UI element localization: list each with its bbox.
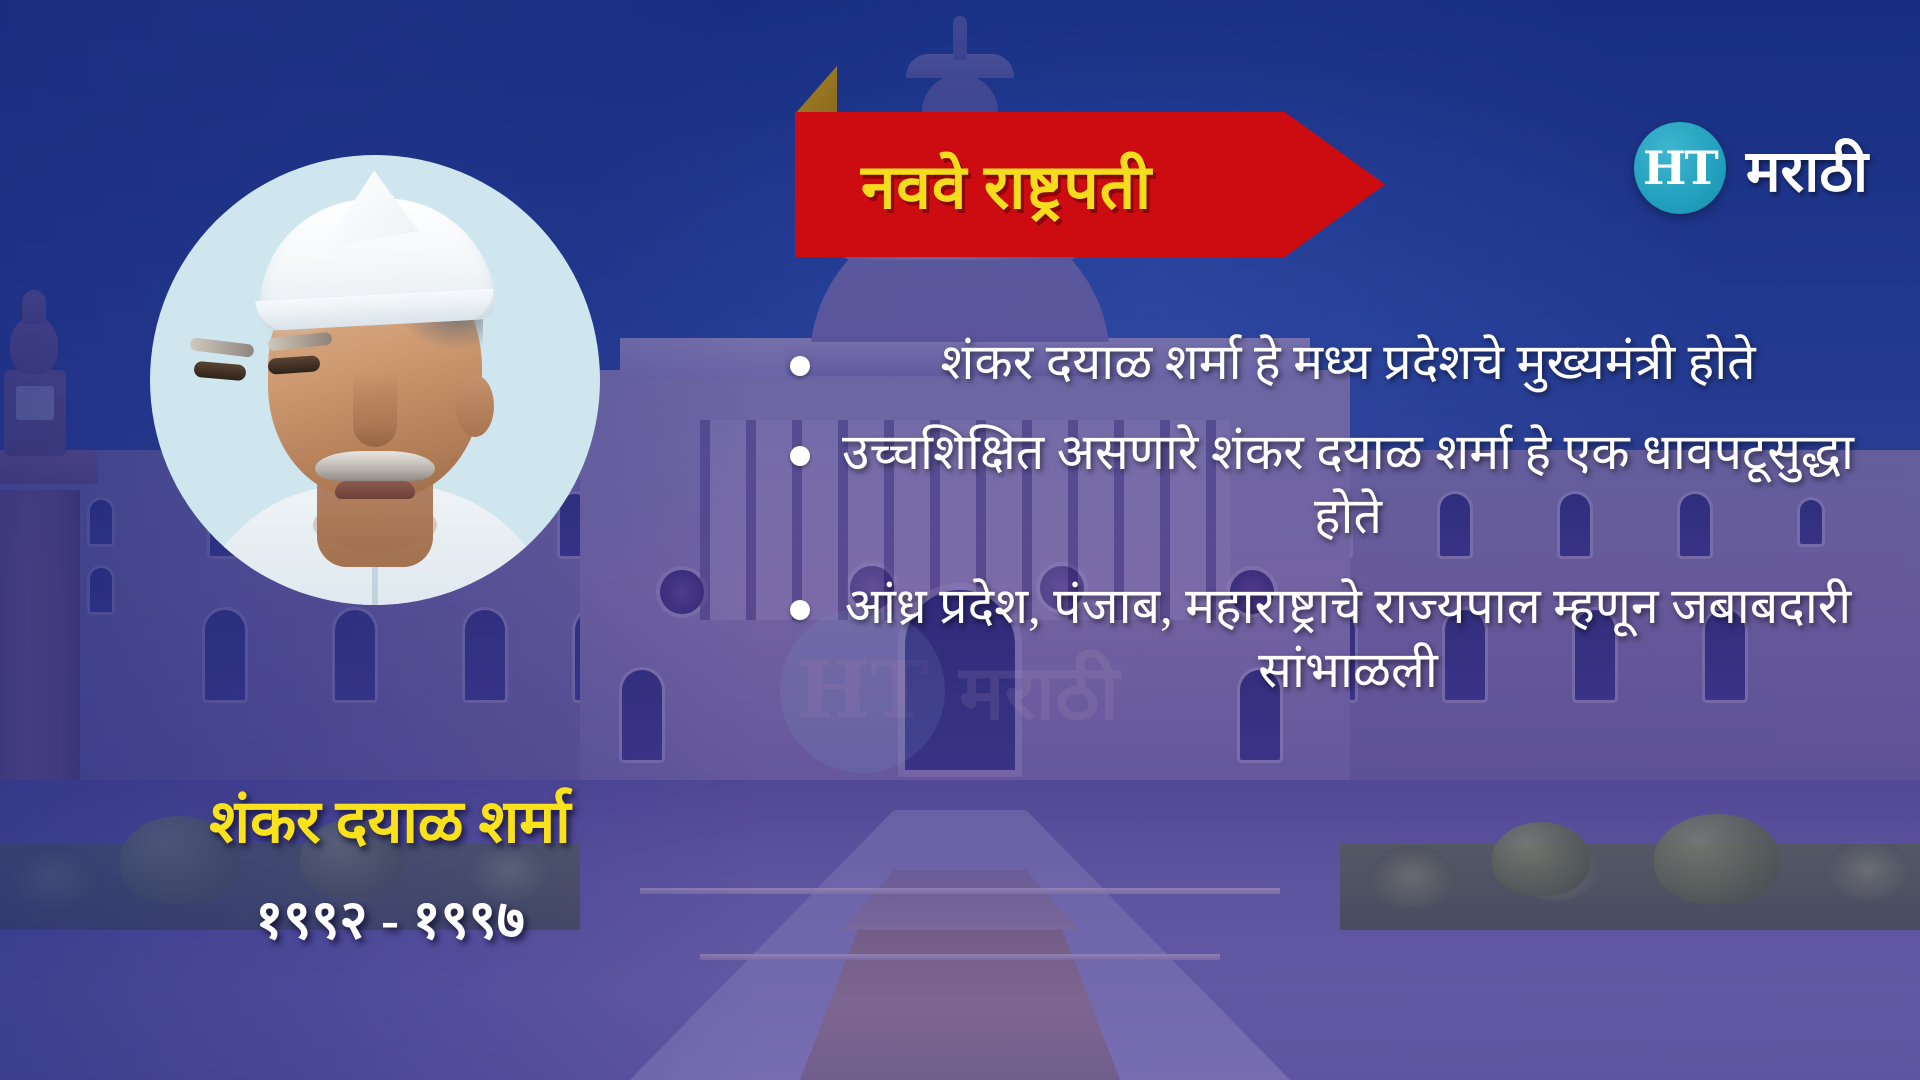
person-name: शंकर दयाळ शर्मा bbox=[60, 778, 720, 860]
person-years: १९९२ - १९९७ bbox=[60, 880, 720, 954]
portrait-chin bbox=[313, 499, 437, 551]
list-item-text: उच्चशिक्षित असणारे शंकर दयाळ शर्मा हे एक… bbox=[816, 420, 1880, 548]
list-item: शंकर दयाळ शर्मा हे मध्य प्रदेशचे मुख्यमं… bbox=[790, 330, 1880, 394]
portrait-mustache bbox=[315, 451, 435, 481]
list-item: उच्चशिक्षित असणारे शंकर दयाळ शर्मा हे एक… bbox=[790, 420, 1880, 548]
bullet-dot-icon bbox=[790, 356, 810, 376]
list-item-text: शंकर दयाळ शर्मा हे मध्य प्रदेशचे मुख्यमं… bbox=[816, 330, 1880, 394]
portrait-eyebrow-left bbox=[189, 337, 254, 358]
bullet-dot-icon bbox=[790, 446, 810, 466]
portrait bbox=[150, 155, 600, 605]
list-item-text: आंध्र प्रदेश, पंजाब, महाराष्ट्राचे राज्य… bbox=[816, 574, 1880, 702]
portrait-eye-left bbox=[193, 361, 246, 381]
portrait-nose bbox=[353, 371, 397, 447]
portrait-circle bbox=[150, 155, 600, 605]
infographic-card: HT मराठी नववे राष्ट्र bbox=[0, 0, 1920, 1080]
bullet-dot-icon bbox=[790, 600, 810, 620]
portrait-mouth bbox=[335, 481, 415, 499]
fact-list: शंकर दयाळ शर्मा हे मध्य प्रदेशचे मुख्यमं… bbox=[790, 330, 1880, 728]
ht-monogram: HT bbox=[1643, 141, 1717, 195]
logo-label: मराठी bbox=[1746, 129, 1868, 208]
banner: नववे राष्ट्रपती bbox=[795, 112, 1385, 257]
banner-title: नववे राष्ट्रपती bbox=[795, 143, 1152, 227]
ht-logo-icon: HT bbox=[1634, 122, 1726, 214]
list-item: आंध्र प्रदेश, पंजाब, महाराष्ट्राचे राज्य… bbox=[790, 574, 1880, 702]
ht-marathi-logo[interactable]: HT मराठी bbox=[1634, 122, 1868, 214]
